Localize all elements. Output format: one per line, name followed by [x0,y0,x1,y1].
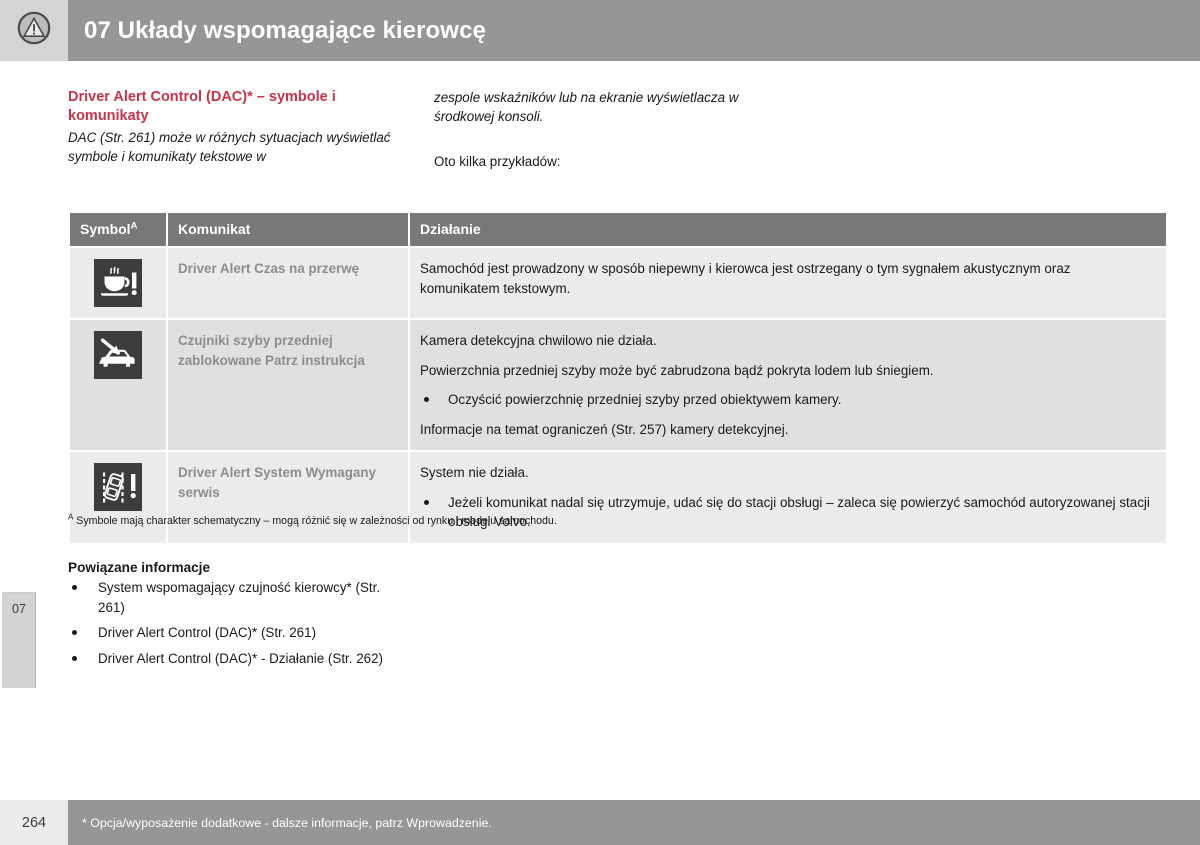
symbol-cell [70,452,166,543]
action-paragraph: Powierzchnia przedniej szyby może być za… [420,361,1152,381]
action-cell: Kamera detekcyjna chwilowo nie działa. P… [410,320,1166,450]
header-icon-box [0,0,68,61]
intro-column-left: Driver Alert Control (DAC)* – symbole i … [68,88,398,166]
action-bullet-item: Oczyścić powierzchnię przedniej szyby pr… [420,390,1152,410]
car-lane-drift-warning-icon [94,463,142,511]
table-header-row: SymbolA Komunikat Działanie [70,213,1166,246]
action-paragraph: Kamera detekcyjna chwilowo nie działa. [420,331,1152,351]
related-link-item[interactable]: System wspomagający czujność kierowcy* (… [68,578,408,617]
intro-paragraph-right: zespole wskaźników lub na ekranie wyświe… [434,88,764,126]
windshield-sensor-blocked-icon [94,331,142,379]
action-cell: System nie działa. Jeżeli komunikat nada… [410,452,1166,543]
page-title: 07 Układy wspomagające kierowcę [84,17,486,45]
message-cell: Driver Alert System Wymagany serwis [168,452,408,543]
coffee-cup-warning-icon [94,259,142,307]
page-header: 07 Układy wspomagające kierowcę [0,0,1200,61]
header-bar: 07 Układy wspomagające kierowcę [68,0,1200,61]
intro-paragraph-left: DAC (Str. 261) może w różnych sytuacjach… [68,128,398,166]
symbol-cell [70,248,166,318]
intro-examples-lead: Oto kilka przykładów: [434,152,764,171]
column-header-symbol: SymbolA [70,213,166,246]
column-header-action: Działanie [410,213,1166,246]
action-paragraph: Samochód jest prowadzony w sposób niepew… [420,259,1152,298]
footnote-text: Symbole mają charakter schematyczny – mo… [76,515,556,527]
related-information-title: Powiązane informacje [68,560,408,575]
action-cell: Samochód jest prowadzony w sposób niepew… [410,248,1166,318]
intro-column-right: zespole wskaźników lub na ekranie wyświe… [434,88,764,171]
page-footer: 264 * Opcja/wyposażenie dodatkowe - dals… [0,800,1200,845]
symbol-cell [70,320,166,450]
footer-note: * Opcja/wyposażenie dodatkowe - dalsze i… [82,816,492,830]
action-paragraph: Informacje na temat ograniczeń (Str. 257… [420,420,1152,440]
related-information-list: System wspomagający czujność kierowcy* (… [68,578,408,668]
table-row: Czujniki szyby przedniej zablokowane Pat… [70,320,1166,450]
warning-triangle-icon [17,11,51,50]
footer-bar: * Opcja/wyposażenie dodatkowe - dalsze i… [68,800,1200,845]
column-header-footnote-marker: A [131,220,138,231]
footer-note-text: Opcja/wyposażenie dodatkowe - dalsze inf… [87,816,492,830]
footnote-marker: A [68,512,73,521]
related-link-item[interactable]: Driver Alert Control (DAC)* - Działanie … [68,649,408,669]
table-row: Driver Alert Czas na przerwę Samochód je… [70,248,1166,318]
chapter-number: 07 [2,602,36,616]
chapter-side-tab: 07 [2,592,36,688]
page-number-box: 264 [0,800,68,845]
column-header-message: Komunikat [168,213,408,246]
action-paragraph: System nie działa. [420,463,1152,483]
symbols-table-wrapper: SymbolA Komunikat Działanie [68,211,1164,545]
section-heading: Driver Alert Control (DAC)* – symbole i … [68,88,398,126]
related-link-item[interactable]: Driver Alert Control (DAC)* (Str. 261) [68,623,408,643]
message-cell: Driver Alert Czas na przerwę [168,248,408,318]
table-row: Driver Alert System Wymagany serwis Syst… [70,452,1166,543]
symbols-table: SymbolA Komunikat Działanie [68,211,1168,545]
related-information-section: Powiązane informacje System wspomagający… [68,560,408,674]
spacer [434,126,764,152]
message-cell: Czujniki szyby przedniej zablokowane Pat… [168,320,408,450]
table-footnote: A Symbole mają charakter schematyczny – … [68,514,1118,528]
page-number: 264 [22,815,46,831]
action-bullet-list: Oczyścić powierzchnię przedniej szyby pr… [420,390,1152,410]
